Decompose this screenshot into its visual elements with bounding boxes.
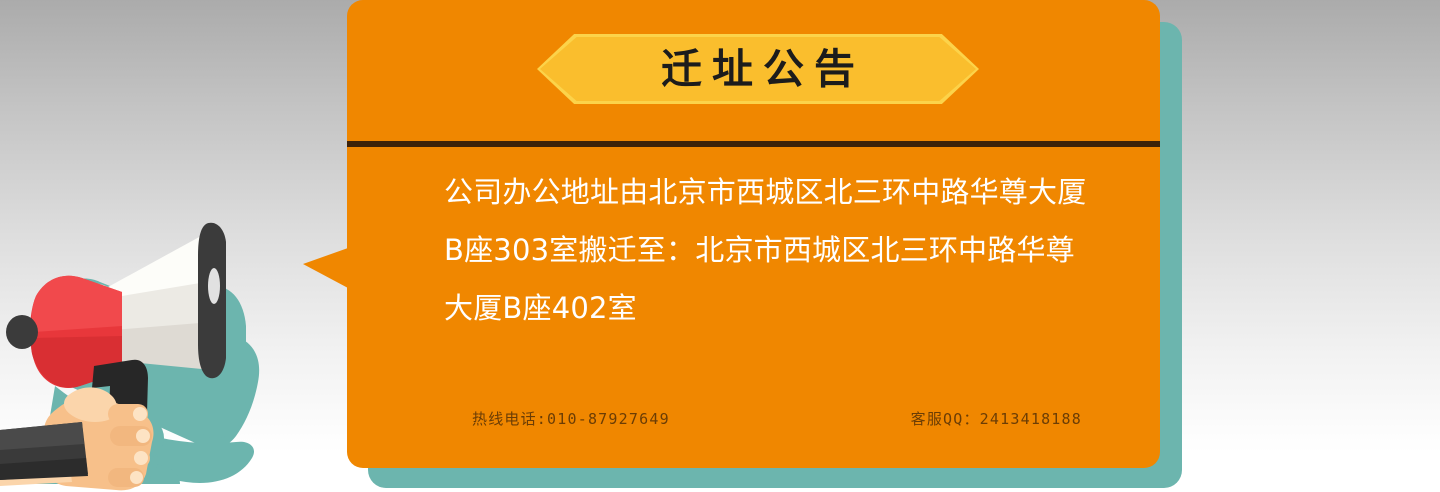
announcement-card: 迁址公告 公司办公地址由北京市西城区北三环中路华尊大厦B座303室搬迁至：北京市… bbox=[347, 0, 1160, 468]
sleeve bbox=[0, 422, 88, 480]
page-title: 迁址公告 bbox=[537, 34, 979, 104]
announcement-body-text: 公司办公地址由北京市西城区北三环中路华尊大厦B座303室搬迁至：北京市西城区北三… bbox=[444, 163, 1094, 337]
contact-footer: 热线电话:010-87927649 客服QQ：2413418188 bbox=[472, 408, 1082, 429]
title-banner: 迁址公告 bbox=[537, 34, 979, 104]
announcement-banner-canvas: 迁址公告 公司办公地址由北京市西城区北三环中路华尊大厦B座303室搬迁至：北京市… bbox=[0, 0, 1440, 492]
header-divider bbox=[347, 141, 1160, 147]
hotline-text: 热线电话:010-87927649 bbox=[472, 408, 670, 429]
megaphone-illustration bbox=[0, 186, 300, 492]
qq-text: 客服QQ：2413418188 bbox=[911, 408, 1082, 429]
speech-bubble-tail bbox=[303, 248, 348, 288]
